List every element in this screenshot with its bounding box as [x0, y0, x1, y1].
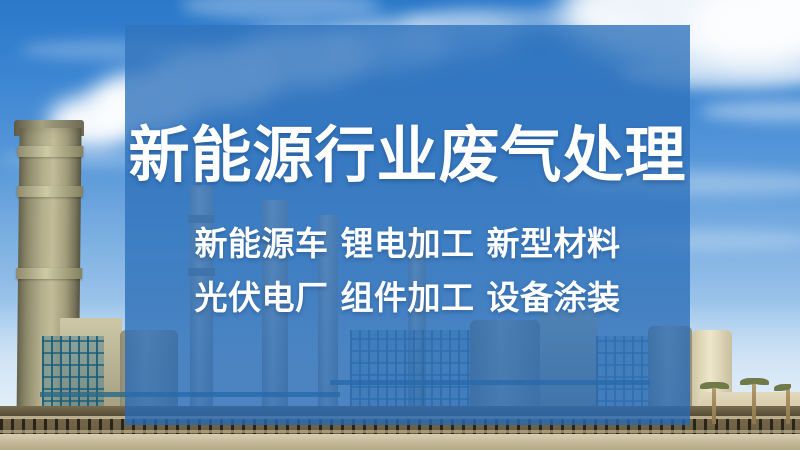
palm-frond — [752, 378, 769, 385]
banner-headline: 新能源行业废气处理 — [125, 125, 690, 186]
smokestack-band — [16, 268, 82, 279]
palm-tree — [786, 388, 790, 424]
banner-subtitle-line-2: 光伏电厂 组件加工 设备涂装 — [125, 281, 690, 314]
banner-subtitle-line-1: 新能源车 锂电加工 新型材料 — [125, 227, 690, 260]
palm-tree — [712, 386, 716, 424]
smokestack-band — [17, 146, 83, 157]
palm-frond — [712, 382, 729, 389]
concrete-seawall — [0, 434, 800, 450]
smokestack-band — [17, 186, 83, 197]
promo-banner: 新能源行业废气处理 新能源车 锂电加工 新型材料 光伏电厂 组件加工 设备涂装 — [0, 0, 800, 450]
palm-tree — [752, 382, 756, 424]
guard-rail — [0, 430, 800, 433]
pipe-rack — [42, 336, 104, 414]
banner-text-layer: 新能源行业废气处理 新能源车 锂电加工 新型材料 光伏电厂 组件加工 设备涂装 — [125, 25, 690, 425]
